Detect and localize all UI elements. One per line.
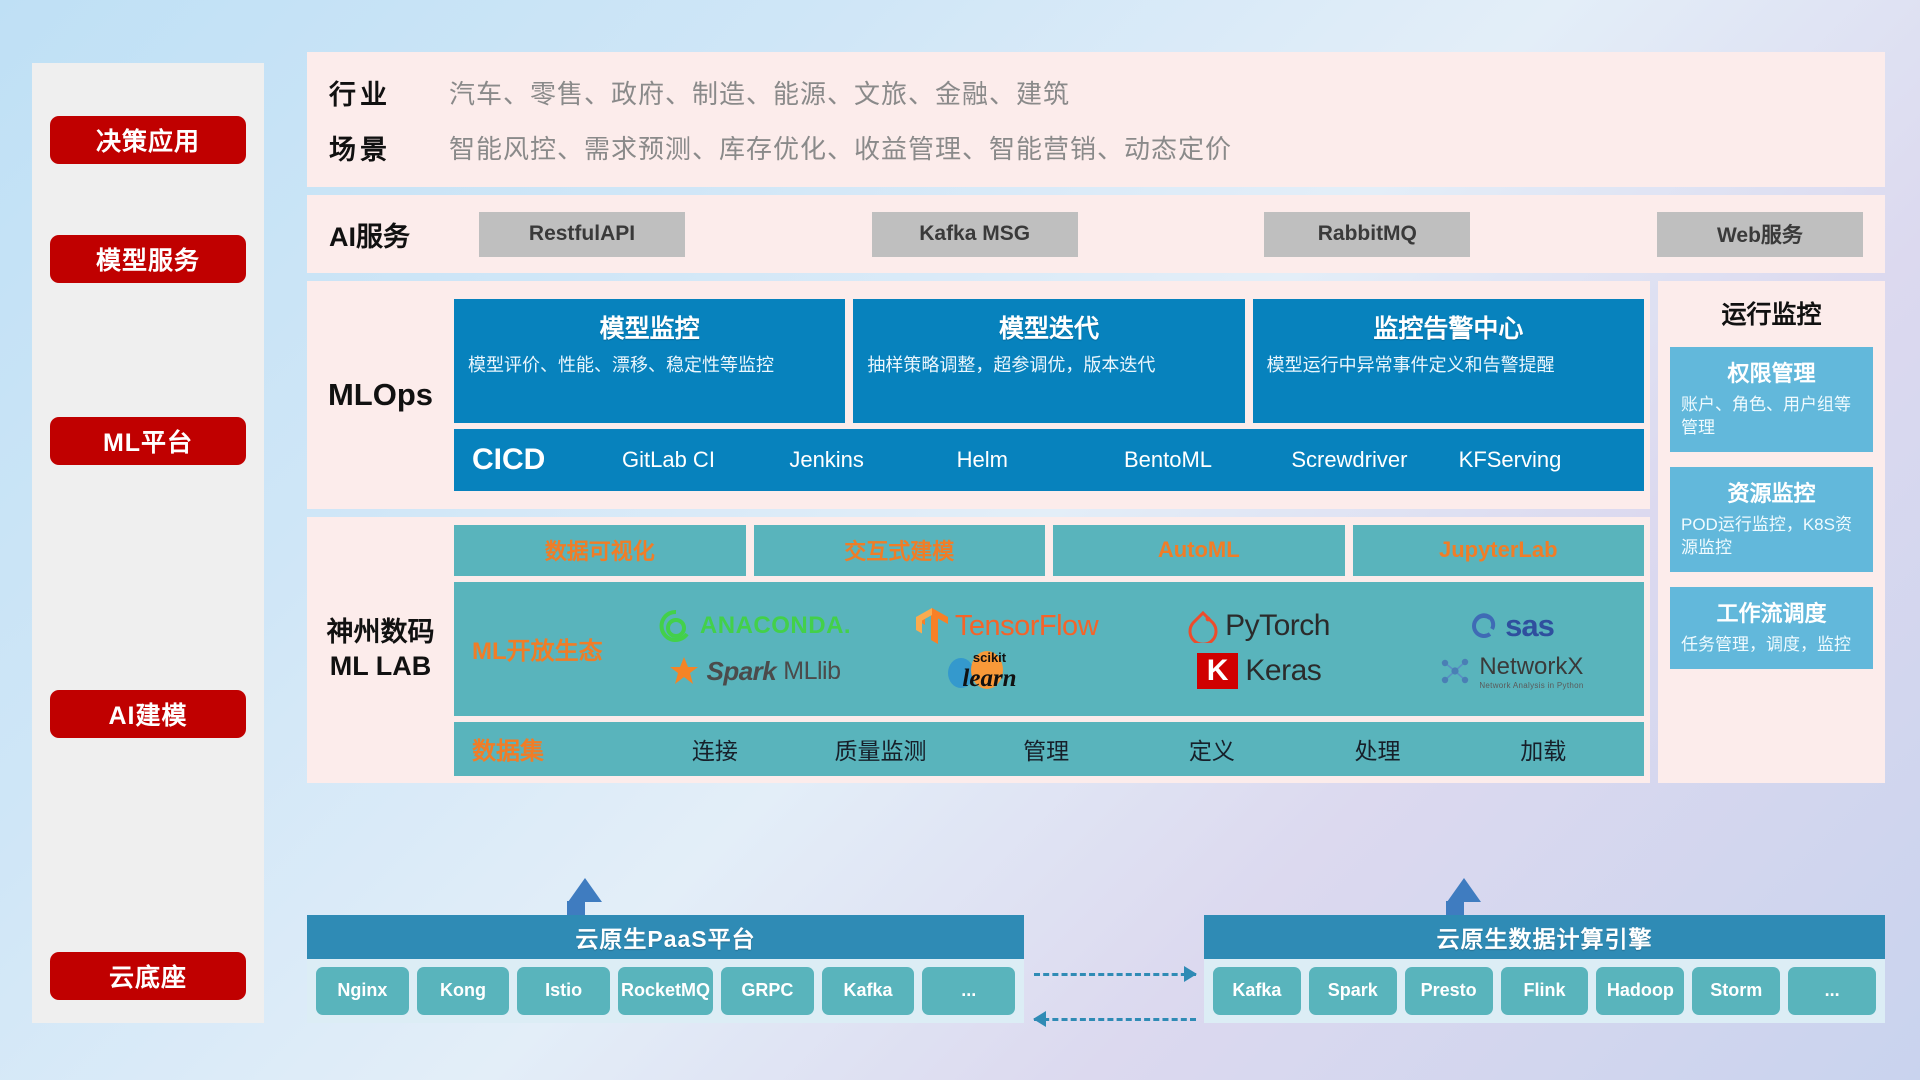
cloud-data-engine-title: 云原生数据计算引擎 (1204, 915, 1885, 959)
ops-panel-column: 运行监控 权限管理 账户、角色、用户组等管理 资源监控 POD运行监控，K8S资… (1658, 281, 1885, 783)
ai-service-label: AI服务 (329, 215, 479, 254)
ml-lab-label-line2: ML LAB (307, 650, 454, 684)
cloud-paas-title: 云原生PaaS平台 (307, 915, 1024, 959)
cloud-data-chip[interactable]: Flink (1501, 967, 1589, 1015)
anaconda-logo-item: ANACONDA. (659, 609, 851, 643)
rail-item-cloud-base[interactable]: 云底座 (50, 952, 246, 1000)
cloud-data-engine-box: 云原生数据计算引擎 Kafka Spark Presto Flink Hadoo… (1204, 915, 1885, 1023)
ml-lab-label: 神州数码 ML LAB (307, 616, 454, 684)
rail-item-label: 决策应用 (96, 122, 200, 158)
sas-icon (1468, 611, 1498, 641)
ops-card-desc: POD运行监控，K8S资源监控 (1681, 514, 1862, 560)
cloud-paas-chip[interactable]: Kong (417, 967, 510, 1015)
dataset-item[interactable]: 定义 (1129, 732, 1295, 766)
ops-card-workflow-scheduling[interactable]: 工作流调度 任务管理，调度，监控 (1670, 587, 1873, 669)
keras-logo-item: K Keras (1197, 653, 1322, 689)
mlops-card-title: 模型迭代 (867, 309, 1230, 345)
decision-apps-band: 行业 汽车、零售、政府、制造、能源、文旅、金融、建筑 场景 智能风控、需求预测、… (307, 52, 1885, 187)
ops-card-title: 资源监控 (1681, 476, 1862, 508)
cloud-paas-chip[interactable]: RocketMQ (618, 967, 713, 1015)
runtime-monitoring-panel: 运行监控 权限管理 账户、角色、用户组等管理 资源监控 POD运行监控，K8S资… (1658, 281, 1885, 783)
cloud-paas-box: 云原生PaaS平台 Nginx Kong Istio RocketMQ GRPC… (307, 915, 1024, 1023)
networkx-icon (1438, 655, 1472, 687)
ops-card-title: 工作流调度 (1681, 596, 1862, 628)
mlops-card-list: 模型监控 模型评价、性能、漂移、稳定性等监控 模型迭代 抽样策略调整，超参调优，… (454, 299, 1644, 423)
dataset-row: 数据集 连接 质量监测 管理 定义 处理 加载 (454, 722, 1644, 776)
rail-item-model-service[interactable]: 模型服务 (50, 235, 246, 283)
sas-logo-item: sas (1468, 608, 1554, 644)
scikit-logo-text: scikit (973, 650, 1006, 665)
ai-service-chip-list: RestfulAPI Kafka MSG RabbitMQ Web服务 (479, 212, 1863, 257)
rail-item-ai-modeling[interactable]: AI建模 (50, 690, 246, 738)
anaconda-icon (659, 609, 693, 643)
tensorflow-icon (916, 608, 948, 644)
cloud-paas-chip[interactable]: Kafka (822, 967, 915, 1015)
dataset-item[interactable]: 管理 (963, 732, 1129, 766)
ai-service-chip[interactable]: Web服务 (1657, 212, 1863, 257)
dataset-item[interactable]: 加载 (1460, 732, 1626, 766)
cloud-paas-item-list: Nginx Kong Istio RocketMQ GRPC Kafka ... (307, 959, 1024, 1023)
ops-card-desc: 账户、角色、用户组等管理 (1681, 394, 1862, 440)
industry-value: 汽车、零售、政府、制造、能源、文旅、金融、建筑 (449, 74, 1070, 111)
cloud-data-chip-more[interactable]: ... (1788, 967, 1876, 1015)
mlops-band: MLOps 模型监控 模型评价、性能、漂移、稳定性等监控 模型迭代 抽样策略调整… (307, 281, 1650, 509)
cicd-item[interactable]: KFServing (1459, 447, 1626, 472)
ai-service-band: AI服务 RestfulAPI Kafka MSG RabbitMQ Web服务 (307, 195, 1885, 273)
arrow-up-stem (567, 901, 585, 915)
networkx-logo-subtext: Network Analysis in Python (1479, 681, 1583, 690)
cloud-paas-chip[interactable]: GRPC (721, 967, 814, 1015)
ai-modeling-band: 神州数码 ML LAB 数据可视化 交互式建模 AutoML JupyterLa… (307, 517, 1650, 783)
spark-mllib-logo-item: Spark MLlib (669, 656, 840, 687)
arrow-head-left-icon (1033, 1011, 1046, 1027)
tensorflow-logo-item: TensorFlow (916, 608, 1098, 644)
mllib-logo-text: MLlib (783, 657, 840, 686)
modeling-tool-jupyterlab[interactable]: JupyterLab (1353, 525, 1645, 576)
ai-service-chip[interactable]: RabbitMQ (1264, 212, 1470, 257)
scenario-key: 场景 (329, 128, 449, 167)
arrow-up-stem (1446, 901, 1464, 915)
ops-panel-title: 运行监控 (1670, 295, 1873, 331)
scikit-learn-logo-item: scikit learn (945, 650, 1068, 693)
industry-row: 行业 汽车、零售、政府、制造、能源、文旅、金融、建筑 (329, 65, 1863, 120)
cicd-title: CICD (472, 443, 622, 477)
arrow-up-to-ml-lab-icon (1447, 878, 1481, 902)
dataset-title: 数据集 (472, 731, 632, 766)
dashed-line (1034, 1018, 1196, 1021)
main-column: 行业 汽车、零售、政府、制造、能源、文旅、金融、建筑 场景 智能风控、需求预测、… (307, 52, 1885, 783)
industry-key: 行业 (329, 73, 449, 112)
spark-star-icon (669, 656, 699, 686)
rail-item-label: ML平台 (103, 423, 193, 459)
ai-service-chip[interactable]: Kafka MSG (872, 212, 1078, 257)
dataset-item[interactable]: 质量监测 (798, 732, 964, 766)
left-rail: 决策应用 模型服务 ML平台 AI建模 云底座 (32, 63, 264, 1023)
mlops-card-desc: 抽样策略调整，超参调优，版本迭代 (867, 353, 1230, 377)
arrow-head-right-icon (1184, 966, 1197, 982)
rail-item-ml-platform[interactable]: ML平台 (50, 417, 246, 465)
dashed-line (1034, 973, 1196, 976)
cloud-paas-chip-more[interactable]: ... (922, 967, 1015, 1015)
platform-and-ops-wrapper: MLOps 模型监控 模型评价、性能、漂移、稳定性等监控 模型迭代 抽样策略调整… (307, 281, 1885, 783)
networkx-logo-text: NetworkX (1479, 653, 1583, 681)
spark-logo-text: Spark (706, 656, 776, 687)
mlops-card-model-monitoring[interactable]: 模型监控 模型评价、性能、漂移、稳定性等监控 (454, 299, 845, 423)
anaconda-logo-text: ANACONDA. (700, 612, 851, 640)
ml-open-ecosystem-row: ML开放生态 ANACONDA. (454, 582, 1644, 716)
pytorch-logo-text: PyTorch (1225, 609, 1330, 643)
cloud-data-chip[interactable]: Storm (1692, 967, 1780, 1015)
pytorch-icon (1188, 609, 1218, 643)
networkx-logo-item: NetworkX Network Analysis in Python (1438, 653, 1583, 690)
cicd-item[interactable]: GitLab CI (622, 447, 789, 472)
cloud-paas-chip[interactable]: Nginx (316, 967, 409, 1015)
ops-card-desc: 任务管理，调度，监控 (1681, 634, 1862, 657)
mlops-label: MLOps (307, 377, 454, 413)
scenario-value: 智能风控、需求预测、库存优化、收益管理、智能营销、动态定价 (449, 129, 1232, 166)
ml-open-ecosystem-label: ML开放生态 (472, 631, 632, 666)
cicd-item[interactable]: Screwdriver (1291, 447, 1458, 472)
arrow-up-to-modeling-icon (568, 878, 602, 902)
cloud-data-chip[interactable]: Hadoop (1596, 967, 1684, 1015)
cloud-data-chip[interactable]: Spark (1309, 967, 1397, 1015)
cicd-bar: CICD GitLab CI Jenkins Helm BentoML Scre… (454, 429, 1644, 491)
mlops-card-desc: 模型评价、性能、漂移、稳定性等监控 (468, 353, 831, 377)
mlops-card-title: 监控告警中心 (1267, 309, 1630, 345)
rail-item-label: 模型服务 (96, 241, 200, 277)
rail-item-label: AI建模 (108, 696, 187, 732)
keras-logo-text: Keras (1245, 654, 1321, 688)
learn-logo-text: learn (962, 665, 1016, 693)
cloud-base-section: 云原生PaaS平台 Nginx Kong Istio RocketMQ GRPC… (307, 878, 1885, 1023)
cloud-data-chip[interactable]: Presto (1405, 967, 1493, 1015)
tensorflow-logo-text: TensorFlow (955, 610, 1098, 643)
ops-card-resource-monitoring[interactable]: 资源监控 POD运行监控，K8S资源监控 (1670, 467, 1873, 572)
cloud-data-chip[interactable]: Kafka (1213, 967, 1301, 1015)
cloud-paas-chip[interactable]: Istio (517, 967, 610, 1015)
modeling-tool-automl[interactable]: AutoML (1053, 525, 1345, 576)
cicd-item[interactable]: Jenkins (789, 447, 956, 472)
dataset-item[interactable]: 处理 (1295, 732, 1461, 766)
mlops-card-desc: 模型运行中异常事件定义和告警提醒 (1267, 353, 1630, 377)
modeling-tool-list: 数据可视化 交互式建模 AutoML JupyterLab (454, 525, 1644, 576)
rail-item-label: 云底座 (109, 958, 187, 994)
ai-service-chip[interactable]: RestfulAPI (479, 212, 685, 257)
modeling-tool-data-visualization[interactable]: 数据可视化 (454, 525, 746, 576)
cicd-item[interactable]: Helm (957, 447, 1124, 472)
mlops-card-alert-center[interactable]: 监控告警中心 模型运行中异常事件定义和告警提醒 (1253, 299, 1644, 423)
scenario-row: 场景 智能风控、需求预测、库存优化、收益管理、智能营销、动态定价 (329, 120, 1863, 175)
ops-card-title: 权限管理 (1681, 356, 1862, 388)
cicd-item[interactable]: BentoML (1124, 447, 1291, 472)
pytorch-logo-item: PyTorch (1188, 609, 1330, 643)
mlops-card-model-iteration[interactable]: 模型迭代 抽样策略调整，超参调优，版本迭代 (853, 299, 1244, 423)
keras-k-icon: K (1197, 653, 1239, 689)
ml-lab-label-line1: 神州数码 (307, 616, 454, 650)
modeling-tool-interactive-modeling[interactable]: 交互式建模 (754, 525, 1046, 576)
ecosystem-logo-grid: ANACONDA. TensorFlow (632, 605, 1634, 693)
platform-column: MLOps 模型监控 模型评价、性能、漂移、稳定性等监控 模型迭代 抽样策略调整… (307, 281, 1650, 783)
dataset-item[interactable]: 连接 (632, 732, 798, 766)
mlops-card-title: 模型监控 (468, 309, 831, 345)
rail-item-decision-apps[interactable]: 决策应用 (50, 116, 246, 164)
sas-logo-text: sas (1505, 608, 1554, 644)
ops-card-permission-management[interactable]: 权限管理 账户、角色、用户组等管理 (1670, 347, 1873, 452)
cloud-data-engine-item-list: Kafka Spark Presto Flink Hadoop Storm ..… (1204, 959, 1885, 1023)
